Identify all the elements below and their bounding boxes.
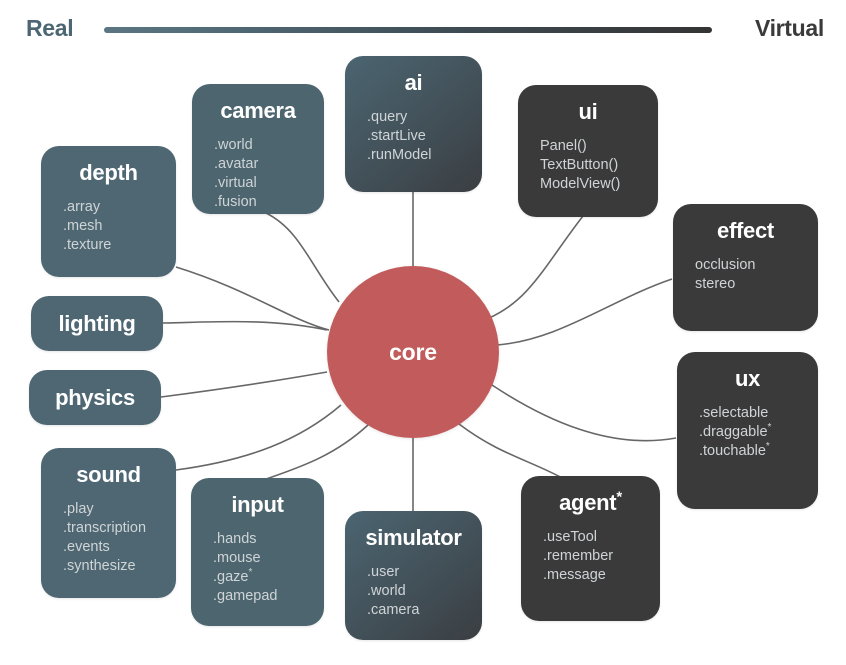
node-lighting-title: lighting [58,311,135,337]
node-ai[interactable]: ai .query .startLive .runModel [345,56,482,192]
node-simulator-members: .user .world .camera [361,563,466,620]
diagram-canvas: Real Virtual core depth .array .mesh .te… [0,0,846,665]
node-lighting[interactable]: lighting [31,296,163,351]
node-agent-title: agent* [537,490,644,516]
link-core-lighting [163,322,327,330]
link-core-camera [266,213,339,302]
node-input-members: .hands .mouse .gaze* .gamepad [207,530,308,606]
link-core-ui [489,216,583,318]
node-sound-members: .play .transcription .events .synthesize [57,500,160,576]
node-physics[interactable]: physics [29,370,161,425]
node-effect-members: occlusion stereo [689,256,802,294]
link-core-effect [497,279,672,345]
link-core-ux [492,385,676,441]
node-camera-members: .world .avatar .virtual .fusion [208,136,308,212]
node-ux[interactable]: ux .selectable .draggable* .touchable* [677,352,818,509]
link-core-input [258,425,368,482]
node-ux-title: ux [693,366,802,392]
node-input-title: input [207,492,308,518]
node-ui-title: ui [534,99,642,125]
real-virtual-axis: Real Virtual [0,0,846,58]
node-simulator-title: simulator [361,525,466,551]
node-depth-title: depth [57,160,160,186]
link-core-physics [161,372,327,397]
node-effect-title: effect [689,218,802,244]
link-core-depth [176,267,329,330]
axis-gradient-bar [104,27,712,33]
node-agent[interactable]: agent* .useTool .remember .message [521,476,660,621]
node-depth-members: .array .mesh .texture [57,198,160,255]
node-simulator[interactable]: simulator .user .world .camera [345,511,482,640]
axis-label-virtual: Virtual [755,14,824,42]
node-camera[interactable]: camera .world .avatar .virtual .fusion [192,84,324,214]
core-label: core [389,339,437,366]
axis-label-real: Real [26,14,73,42]
node-input[interactable]: input .hands .mouse .gaze* .gamepad [191,478,324,626]
node-physics-title: physics [55,385,135,411]
link-core-sound [176,405,341,470]
node-ai-members: .query .startLive .runModel [361,108,466,165]
node-ui[interactable]: ui Panel() TextButton() ModelView() [518,85,658,217]
node-ux-members: .selectable .draggable* .touchable* [693,404,802,461]
node-depth[interactable]: depth .array .mesh .texture [41,146,176,277]
node-agent-members: .useTool .remember .message [537,528,644,585]
node-ui-members: Panel() TextButton() ModelView() [534,137,642,194]
node-camera-title: camera [208,98,308,124]
node-ai-title: ai [361,70,466,96]
link-core-agent [459,424,566,480]
core-node[interactable]: core [327,266,499,438]
node-effect[interactable]: effect occlusion stereo [673,204,818,331]
node-sound[interactable]: sound .play .transcription .events .synt… [41,448,176,598]
node-sound-title: sound [57,462,160,488]
